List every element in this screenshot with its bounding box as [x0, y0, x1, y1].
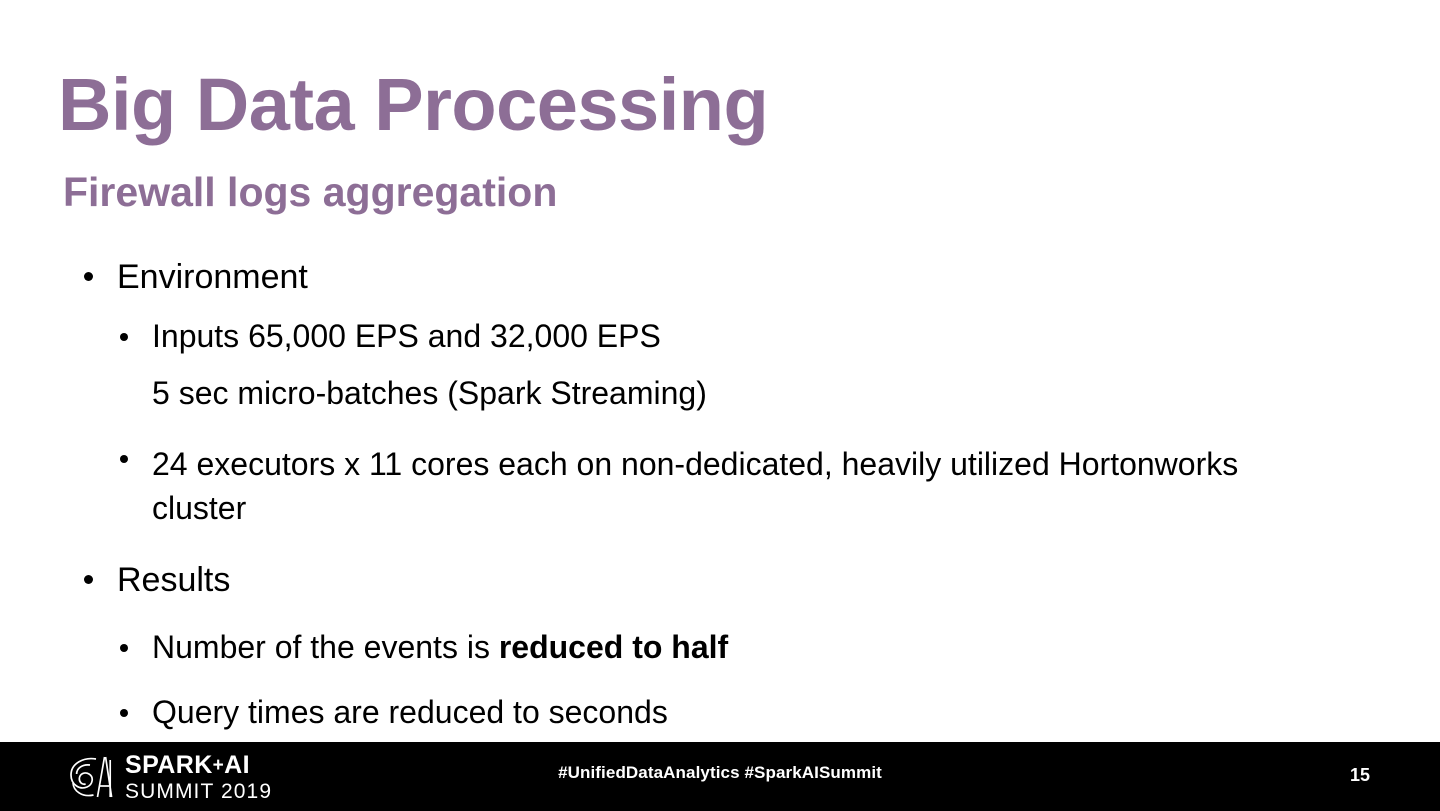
- logo-line-secondary: SUMMIT 2019: [125, 781, 272, 802]
- list-item-label: Environment: [117, 258, 308, 296]
- list-item-events-reduced: Number of the events is reduced to half: [0, 631, 1440, 663]
- list-item-microbatches-continuation: 5 sec micro-batches (Spark Streaming): [0, 377, 1440, 409]
- list-item-query-times: Query times are reduced to seconds: [0, 696, 1440, 728]
- page-title: Big Data Processing: [58, 68, 768, 142]
- list-item-emphasis: reduced to half: [499, 629, 728, 665]
- spacer: [0, 420, 1440, 442]
- bullet-dot-icon: [120, 455, 128, 463]
- slide-body-content: Environment Inputs 65,000 EPS and 32,000…: [0, 260, 1440, 739]
- list-item-label: 5 sec micro-batches (Spark Streaming): [152, 375, 707, 411]
- spacer: [0, 674, 1440, 696]
- bullet-dot-icon: [84, 272, 93, 281]
- bullet-dot-icon: [120, 709, 128, 717]
- list-item-label: Results: [117, 561, 230, 599]
- list-item-inputs: Inputs 65,000 EPS and 32,000 EPS: [0, 320, 1440, 352]
- spacer: [0, 541, 1440, 563]
- bullet-dot-icon: [84, 575, 93, 584]
- list-item-executors: 24 executors x 11 cores each on non-dedi…: [0, 442, 1312, 530]
- slide-canvas: Big Data Processing Firewall logs aggreg…: [0, 0, 1440, 811]
- spacer: [0, 609, 1440, 631]
- page-number: 15: [1340, 765, 1380, 786]
- list-item-environment: Environment: [0, 260, 1440, 294]
- bullet-dot-icon: [120, 333, 128, 341]
- footer-hashtags: #UnifiedDataAnalytics #SparkAISummit: [0, 763, 1440, 783]
- list-item-label: Number of the events is: [152, 629, 499, 665]
- list-item-label: Query times are reduced to seconds: [152, 694, 668, 730]
- bullet-dot-icon: [120, 644, 128, 652]
- list-item-results: Results: [0, 563, 1440, 597]
- list-item-label: 24 executors x 11 cores each on non-dedi…: [152, 446, 1238, 526]
- page-subtitle: Firewall logs aggregation: [63, 172, 557, 213]
- list-item-label: Inputs 65,000 EPS and 32,000 EPS: [152, 318, 661, 354]
